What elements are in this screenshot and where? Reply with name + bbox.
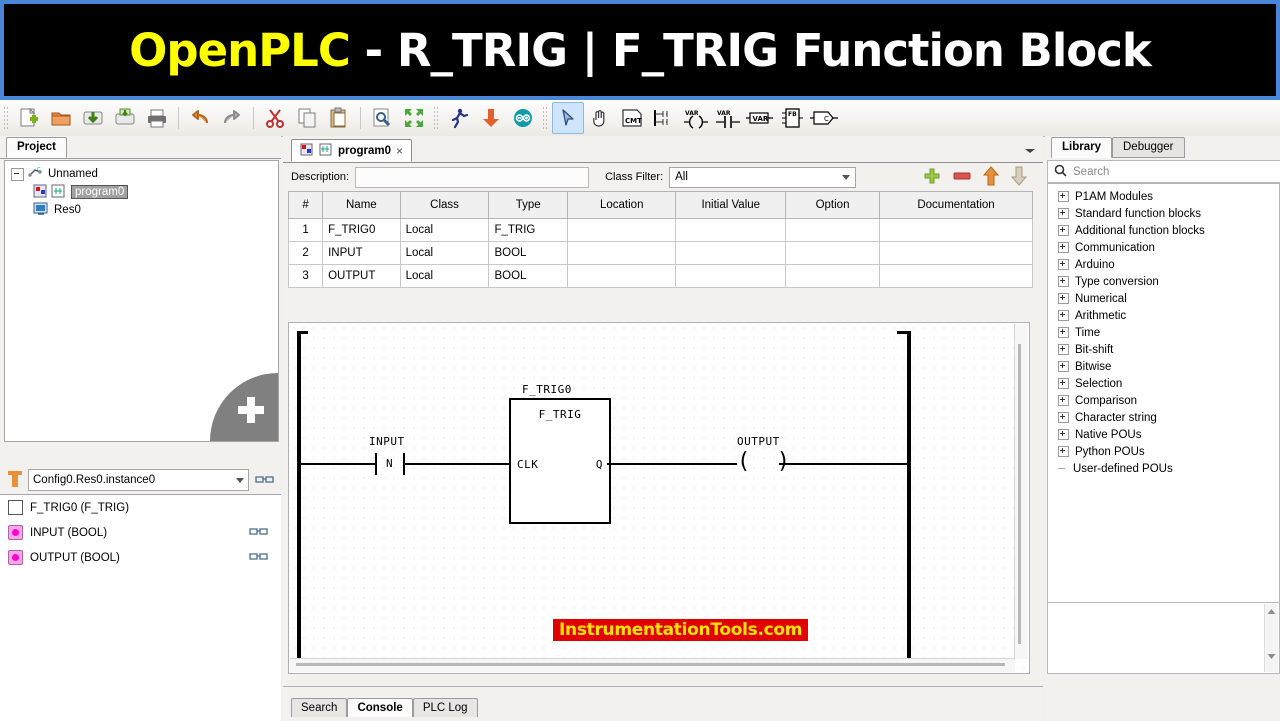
expand-icon[interactable] xyxy=(1058,446,1069,457)
col-type: Type xyxy=(489,192,568,219)
tree-label-res0: Res0 xyxy=(54,204,81,216)
fullscreen-icon[interactable] xyxy=(398,102,430,134)
cell-index: 3 xyxy=(289,265,323,288)
add-variable-button[interactable] xyxy=(923,167,941,188)
cell-class[interactable]: Local xyxy=(400,242,489,265)
left-power-rail xyxy=(297,331,301,661)
library-item[interactable]: Additional function blocks xyxy=(1048,222,1279,239)
block-input-clk: CLK xyxy=(517,458,538,471)
watch-glasses-icon[interactable] xyxy=(249,550,269,565)
col-documentation: Documentation xyxy=(880,192,1033,219)
cell-option[interactable] xyxy=(786,265,880,288)
resource-icon xyxy=(33,202,49,219)
left-rail-foot-top xyxy=(297,331,308,334)
cell-index: 1 xyxy=(289,219,323,242)
bottom-panel: Search Console PLC Log xyxy=(283,686,1043,721)
ladder-diagram-canvas[interactable]: INPUT N F_TRIG0 F_TRIG CLK Q OUTPUT ( ) … xyxy=(288,322,1030,674)
library-item[interactable]: P1AM Modules xyxy=(1048,188,1279,205)
cell-initial-value[interactable] xyxy=(676,265,786,288)
table-row[interactable]: 3 OUTPUT Local BOOL xyxy=(289,265,1033,288)
cell-documentation[interactable] xyxy=(880,219,1033,242)
move-down-button[interactable] xyxy=(1011,166,1027,189)
search-placeholder: Search xyxy=(1073,166,1109,178)
right-power-rail xyxy=(907,331,911,661)
cell-name[interactable]: F_TRIG0 xyxy=(323,219,401,242)
library-item[interactable]: Bitwise xyxy=(1048,358,1279,375)
toolbar-separator xyxy=(178,107,179,129)
expand-icon[interactable] xyxy=(1058,191,1069,202)
editor-tabbar: program0 × xyxy=(283,136,1043,163)
ladder-horizontal-scrollbar[interactable] xyxy=(290,658,1015,672)
expand-icon[interactable] xyxy=(1058,293,1069,304)
library-item[interactable]: Character string xyxy=(1048,409,1279,426)
library-item[interactable]: Arithmetic xyxy=(1048,307,1279,324)
cell-initial-value[interactable] xyxy=(676,219,786,242)
tab-library[interactable]: Library xyxy=(1051,137,1112,158)
copy-icon[interactable] xyxy=(291,102,323,134)
block-type-label: F_TRIG xyxy=(511,408,609,421)
tab-program0[interactable]: program0 × xyxy=(291,139,412,162)
banner-text: OpenPLC - R_TRIG | F_TRIG Function Block xyxy=(129,24,1151,77)
instance-icon xyxy=(6,469,24,492)
undo-icon[interactable] xyxy=(184,102,216,134)
project-panel: Project C Unnamed program0 xyxy=(0,136,281,720)
cell-option[interactable] xyxy=(786,219,880,242)
description-label: Description: xyxy=(291,171,349,183)
col-option: Option xyxy=(786,192,880,219)
cell-option[interactable] xyxy=(786,242,880,265)
contact-icon[interactable]: VAR xyxy=(712,102,744,134)
table-row[interactable]: 2 INPUT Local BOOL xyxy=(289,242,1033,265)
cell-location[interactable] xyxy=(567,265,676,288)
power-rail-icon[interactable] xyxy=(648,102,680,134)
watermark: InstrumentationTools.com xyxy=(552,618,809,642)
library-item-label: Standard function blocks xyxy=(1075,208,1201,220)
library-item-label: Bitwise xyxy=(1075,361,1111,373)
svg-text:C: C xyxy=(824,115,829,123)
expand-icon[interactable] xyxy=(1058,429,1069,440)
library-description-box xyxy=(1047,602,1280,674)
toolbar-separator xyxy=(253,107,254,129)
cell-type[interactable]: F_TRIG xyxy=(489,219,568,242)
toolbar-grip[interactable] xyxy=(3,106,10,130)
watch-glasses-icon[interactable] xyxy=(249,525,269,540)
expand-icon[interactable] xyxy=(1058,412,1069,423)
editor-panel: program0 × Description: Class Filter: Al… xyxy=(283,136,1043,684)
ladder-vertical-scrollbar[interactable] xyxy=(1014,324,1028,659)
library-item-label: Arithmetic xyxy=(1075,310,1126,322)
block-output-q: Q xyxy=(596,458,603,471)
cell-class[interactable]: Local xyxy=(400,265,489,288)
cell-index: 2 xyxy=(289,242,323,265)
leaf-icon xyxy=(1058,464,1067,473)
expand-icon[interactable] xyxy=(1058,310,1069,321)
library-item[interactable]: Numerical xyxy=(1048,290,1279,307)
svg-text:C: C xyxy=(37,167,41,173)
expand-icon[interactable] xyxy=(1058,344,1069,355)
list-item[interactable]: INPUT (BOOL) xyxy=(0,520,281,545)
right-rail-foot-top xyxy=(897,331,908,334)
bool-variable-icon xyxy=(8,550,23,565)
chevron-down-icon[interactable] xyxy=(236,478,244,483)
tab-console[interactable]: Console xyxy=(347,698,412,717)
library-item[interactable]: Python POUs xyxy=(1048,443,1279,460)
cell-name[interactable]: OUTPUT xyxy=(323,265,401,288)
download-icon[interactable] xyxy=(475,102,507,134)
expand-icon[interactable] xyxy=(1058,276,1069,287)
chevron-down-icon[interactable] xyxy=(842,175,850,180)
expand-icon[interactable] xyxy=(1058,242,1069,253)
library-item-label: Time xyxy=(1075,327,1100,339)
scrollbar-thumb[interactable] xyxy=(1018,344,1021,644)
cell-class[interactable]: Local xyxy=(400,219,489,242)
class-filter-value: All xyxy=(675,171,688,183)
instance-select[interactable]: Config0.Res0.instance0 xyxy=(28,469,249,491)
banner-highlight: OpenPLC xyxy=(129,24,350,77)
contact-modifier: N xyxy=(386,457,393,470)
col-name: Name xyxy=(323,192,401,219)
ladder-icon xyxy=(51,184,66,201)
function-block-icon[interactable]: FB xyxy=(776,102,808,134)
list-item[interactable]: OUTPUT (BOOL) xyxy=(0,545,281,570)
cell-type[interactable]: BOOL xyxy=(489,242,568,265)
save-as-icon[interactable] xyxy=(109,102,141,134)
project-tabbar: Project xyxy=(0,136,281,159)
remove-variable-button[interactable] xyxy=(953,170,971,185)
svg-text:VAR: VAR xyxy=(753,115,769,123)
hand-icon[interactable] xyxy=(584,102,616,134)
library-item-label: Selection xyxy=(1075,378,1122,390)
print-icon[interactable] xyxy=(141,102,173,134)
output-coil[interactable]: ( ) xyxy=(737,449,790,474)
tab-project[interactable]: Project xyxy=(6,137,67,158)
tree-node-root[interactable]: C Unnamed xyxy=(5,161,278,183)
library-item-label: Comparison xyxy=(1075,395,1137,407)
tree-label-program0[interactable]: program0 xyxy=(71,185,128,199)
library-item-label: Type conversion xyxy=(1075,276,1159,288)
svg-text:CMT: CMT xyxy=(625,117,642,125)
toolbar-separator xyxy=(360,107,361,129)
cell-documentation[interactable] xyxy=(880,242,1033,265)
library-tabbar: Library Debugger xyxy=(1045,136,1280,158)
library-panel: Library Debugger Search P1AM Modules Sta… xyxy=(1045,136,1280,720)
cell-location[interactable] xyxy=(567,219,676,242)
cell-name[interactable]: INPUT xyxy=(323,242,401,265)
library-item-label: Arduino xyxy=(1075,259,1115,271)
tab-list-dropdown-icon[interactable] xyxy=(1023,146,1037,159)
variable-icon[interactable]: VAR xyxy=(744,102,776,134)
library-item[interactable]: Communication xyxy=(1048,239,1279,256)
cell-documentation[interactable] xyxy=(880,265,1033,288)
toolbar-grip[interactable] xyxy=(433,106,440,130)
expand-icon[interactable] xyxy=(1058,225,1069,236)
library-item[interactable]: User-defined POUs xyxy=(1048,460,1279,477)
library-item[interactable]: Standard function blocks xyxy=(1048,205,1279,222)
expand-icon[interactable] xyxy=(1058,361,1069,372)
scrollbar-thumb[interactable] xyxy=(296,663,1005,666)
wire-contact-to-block xyxy=(405,463,509,465)
function-block-icon xyxy=(8,500,23,515)
add-element-button[interactable] xyxy=(210,373,278,441)
watch-glasses-icon[interactable] xyxy=(255,473,275,488)
pou-icon xyxy=(300,143,314,159)
cell-location[interactable] xyxy=(567,242,676,265)
svg-text:VAR: VAR xyxy=(717,110,731,117)
library-item[interactable]: Arduino xyxy=(1048,256,1279,273)
expand-icon[interactable] xyxy=(1058,208,1069,219)
library-item-label: Character string xyxy=(1075,412,1157,424)
library-item[interactable]: Selection xyxy=(1048,375,1279,392)
save-icon[interactable] xyxy=(77,102,109,134)
expand-icon[interactable] xyxy=(1058,327,1069,338)
function-block-f-trig[interactable]: F_TRIG CLK Q xyxy=(509,398,611,524)
search-icon xyxy=(1054,164,1067,180)
tree-node-res0[interactable]: Res0 xyxy=(5,201,278,219)
table-row[interactable]: 1 F_TRIG0 Local F_TRIG xyxy=(289,219,1033,242)
library-item[interactable]: Comparison xyxy=(1048,392,1279,409)
tree-node-program0[interactable]: program0 xyxy=(5,183,278,201)
col-location: Location xyxy=(567,192,676,219)
svg-text:FB: FB xyxy=(788,111,797,118)
search-icon[interactable] xyxy=(366,102,398,134)
plus-icon xyxy=(238,397,264,423)
library-item-label: Bit-shift xyxy=(1075,344,1113,356)
redo-icon[interactable] xyxy=(216,102,248,134)
bottom-tabbar: Search Console PLC Log xyxy=(283,687,1043,717)
list-item[interactable]: F_TRIG0 (F_TRIG) xyxy=(0,495,281,520)
wire-rail-to-contact xyxy=(299,463,375,465)
title-banner: OpenPLC - R_TRIG | F_TRIG Function Block xyxy=(0,0,1280,100)
class-filter-label: Class Filter: xyxy=(605,171,663,183)
library-tree[interactable]: P1AM Modules Standard function blocks Ad… xyxy=(1047,183,1280,644)
bool-variable-icon xyxy=(8,525,23,540)
library-item-label: Communication xyxy=(1075,242,1155,254)
library-item-label: User-defined POUs xyxy=(1073,463,1173,475)
col-class: Class xyxy=(400,192,489,219)
banner-rest: - R_TRIG | F_TRIG Function Block xyxy=(350,24,1151,77)
library-item[interactable]: Time xyxy=(1048,324,1279,341)
description-input[interactable] xyxy=(355,167,589,188)
move-up-button[interactable] xyxy=(983,166,999,189)
wire-block-to-coil xyxy=(607,463,737,465)
library-description-scrollbar[interactable] xyxy=(1264,604,1278,672)
col-index: # xyxy=(289,192,323,219)
tab-search[interactable]: Search xyxy=(291,698,347,717)
contact-left-bar[interactable] xyxy=(375,453,377,475)
ladder-icon xyxy=(319,143,333,159)
variable-actions xyxy=(923,166,1035,189)
library-item-label: Native POUs xyxy=(1075,429,1141,441)
pointer-icon[interactable] xyxy=(552,102,584,134)
variable-label: OUTPUT (BOOL) xyxy=(30,552,120,564)
input-contact-label: INPUT xyxy=(369,435,405,448)
project-tree[interactable]: C Unnamed program0 Res0 xyxy=(4,160,279,442)
output-coil-label: OUTPUT xyxy=(737,435,780,448)
library-item[interactable]: Type conversion xyxy=(1048,273,1279,290)
library-search[interactable]: Search xyxy=(1047,160,1280,183)
col-initial-value: Initial Value xyxy=(676,192,786,219)
tab-label: program0 xyxy=(338,145,391,157)
variable-table[interactable]: # Name Class Type Location Initial Value… xyxy=(288,191,1033,288)
tab-plc-log[interactable]: PLC Log xyxy=(413,698,478,717)
openplc-window: OpenPLC - R_TRIG | F_TRIG Function Block xyxy=(0,0,1280,720)
toolbar-grip[interactable] xyxy=(542,106,549,130)
wire-coil-to-rail xyxy=(779,463,909,465)
cell-initial-value[interactable] xyxy=(676,242,786,265)
cell-type[interactable]: BOOL xyxy=(489,265,568,288)
expand-icon[interactable] xyxy=(1058,395,1069,406)
library-item-label: Additional function blocks xyxy=(1075,225,1205,237)
open-folder-icon[interactable] xyxy=(45,102,77,134)
library-item-label: Python POUs xyxy=(1075,446,1145,458)
paste-icon[interactable] xyxy=(323,102,355,134)
variable-label: F_TRIG0 (F_TRIG) xyxy=(30,502,129,514)
cut-icon[interactable] xyxy=(259,102,291,134)
library-item-label: Numerical xyxy=(1075,293,1127,305)
connector-icon[interactable]: C xyxy=(808,102,840,134)
arduino-icon[interactable] xyxy=(507,102,539,134)
run-icon[interactable] xyxy=(443,102,475,134)
main-toolbar: CMT VAR VAR VAR FB C xyxy=(0,100,1280,137)
class-filter-select[interactable]: All xyxy=(669,167,856,188)
variable-label: INPUT (BOOL) xyxy=(30,527,107,539)
coil-icon[interactable]: VAR xyxy=(680,102,712,134)
library-item[interactable]: Native POUs xyxy=(1048,426,1279,443)
new-file-icon[interactable] xyxy=(13,102,45,134)
description-row: Description: Class Filter: All xyxy=(283,163,1043,191)
library-item[interactable]: Bit-shift xyxy=(1048,341,1279,358)
tab-debugger[interactable]: Debugger xyxy=(1112,137,1185,158)
close-icon[interactable]: × xyxy=(396,144,403,158)
instance-selector-bar: Config0.Res0.instance0 xyxy=(0,466,281,494)
collapse-icon[interactable] xyxy=(11,168,24,181)
table-header-row: # Name Class Type Location Initial Value… xyxy=(289,192,1033,219)
tree-label-root: Unnamed xyxy=(48,168,98,180)
comment-icon[interactable]: CMT xyxy=(616,102,648,134)
library-item-label: P1AM Modules xyxy=(1075,191,1153,203)
pou-icon xyxy=(33,184,48,201)
expand-icon[interactable] xyxy=(1058,259,1069,270)
block-instance-label: F_TRIG0 xyxy=(522,383,572,396)
expand-icon[interactable] xyxy=(1058,378,1069,389)
instance-value: Config0.Res0.instance0 xyxy=(33,474,155,486)
project-icon: C xyxy=(28,166,43,182)
instance-variable-list[interactable]: F_TRIG0 (F_TRIG) INPUT (BOOL) OUTPUT (BO… xyxy=(0,494,281,721)
title-banner-inner: OpenPLC - R_TRIG | F_TRIG Function Block xyxy=(4,4,1276,96)
